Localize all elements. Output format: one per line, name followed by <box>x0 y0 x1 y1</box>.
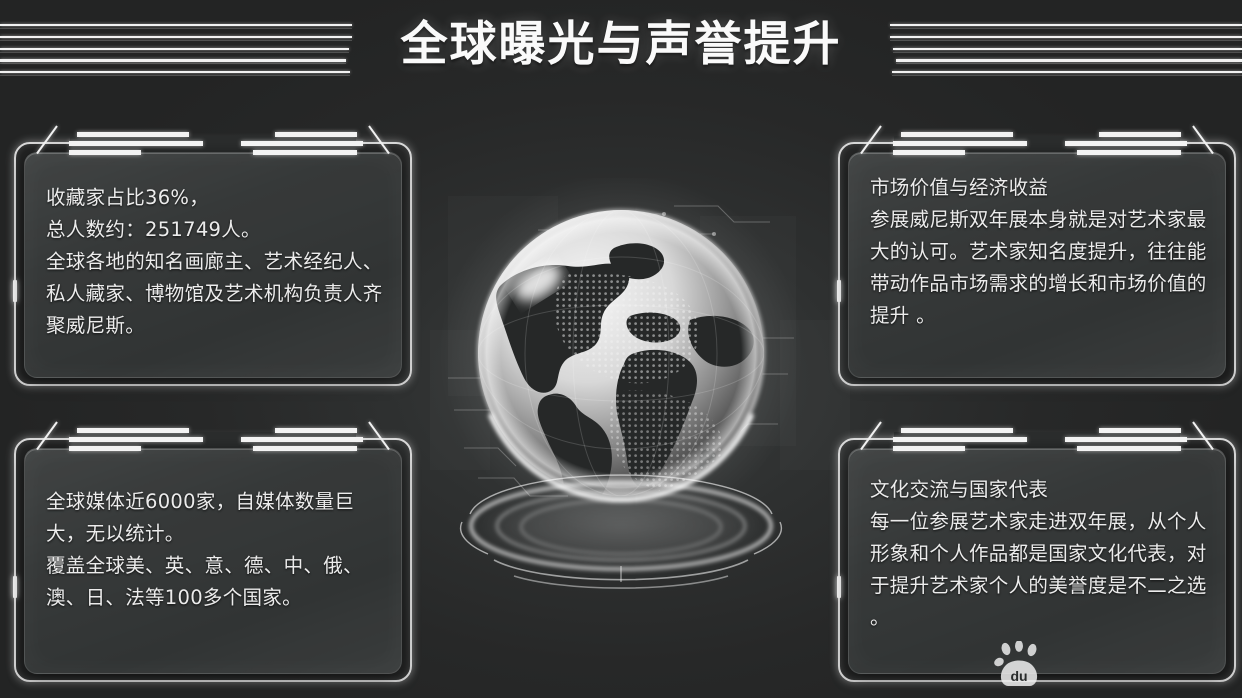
card-edge-notch <box>13 576 17 598</box>
card-text: 收藏家占比36%， 总人数约：251749人。 全球各地的知名画廊主、艺术经纪人… <box>46 182 392 342</box>
card-frame-gap <box>894 432 1180 448</box>
card-frame-gap <box>70 432 356 448</box>
card-text: 市场价值与经济收益 参展威尼斯双年展本身就是对艺术家最大的认可。艺术家知名度提升… <box>870 172 1216 332</box>
card-line: 文化交流与国家代表 <box>870 474 1216 506</box>
card-line: 全球各地的知名画廊主、艺术经纪人、私人藏家、博物馆及艺术机构负责人齐聚威尼斯。 <box>46 246 392 342</box>
card-edge-notch <box>13 280 17 302</box>
baidu-watermark: du <box>992 641 1046 689</box>
page-title: 全球曝光与声誉提升 <box>0 16 1242 74</box>
card-collectors[interactable]: 收藏家占比36%， 总人数约：251749人。 全球各地的知名画廊主、艺术经纪人… <box>14 128 412 386</box>
card-text: 全球媒体近6000家，自媒体数量巨大，无以统计。 覆盖全球美、英、意、德、中、俄… <box>46 486 392 614</box>
card-line: 收藏家占比36%， <box>46 182 392 214</box>
card-line: 参展威尼斯双年展本身就是对艺术家最大的认可。艺术家知名度提升，往往能带动作品市场… <box>870 204 1216 332</box>
globe-graphic <box>418 178 824 598</box>
card-line: 覆盖全球美、英、意、德、中、俄、澳、日、法等100多个国家。 <box>46 550 392 614</box>
card-line: 每一位参展艺术家走进双年展，从个人形象和个人作品都是国家文化代表，对于提升艺术家… <box>870 506 1216 634</box>
card-line: 总人数约：251749人。 <box>46 214 392 246</box>
globe-svg <box>418 178 824 598</box>
baidu-paw-icon: du <box>992 641 1046 689</box>
card-edge-notch <box>837 576 841 598</box>
baidu-watermark-label: du <box>1010 668 1027 684</box>
card-frame-gap <box>894 136 1180 152</box>
card-edge-notch <box>837 280 841 302</box>
card-line: 全球媒体近6000家，自媒体数量巨大，无以统计。 <box>46 486 392 550</box>
card-media[interactable]: 全球媒体近6000家，自媒体数量巨大，无以统计。 覆盖全球美、英、意、德、中、俄… <box>14 424 412 682</box>
slide-root: 全球曝光与声誉提升 收藏家占比36%， 总人数约：251749人。 全球各地的知… <box>0 0 1242 698</box>
card-market-value[interactable]: 市场价值与经济收益 参展威尼斯双年展本身就是对艺术家最大的认可。艺术家知名度提升… <box>838 128 1236 386</box>
card-text: 文化交流与国家代表 每一位参展艺术家走进双年展，从个人形象和个人作品都是国家文化… <box>870 474 1216 634</box>
card-frame-gap <box>70 136 356 152</box>
card-line: 市场价值与经济收益 <box>870 172 1216 204</box>
